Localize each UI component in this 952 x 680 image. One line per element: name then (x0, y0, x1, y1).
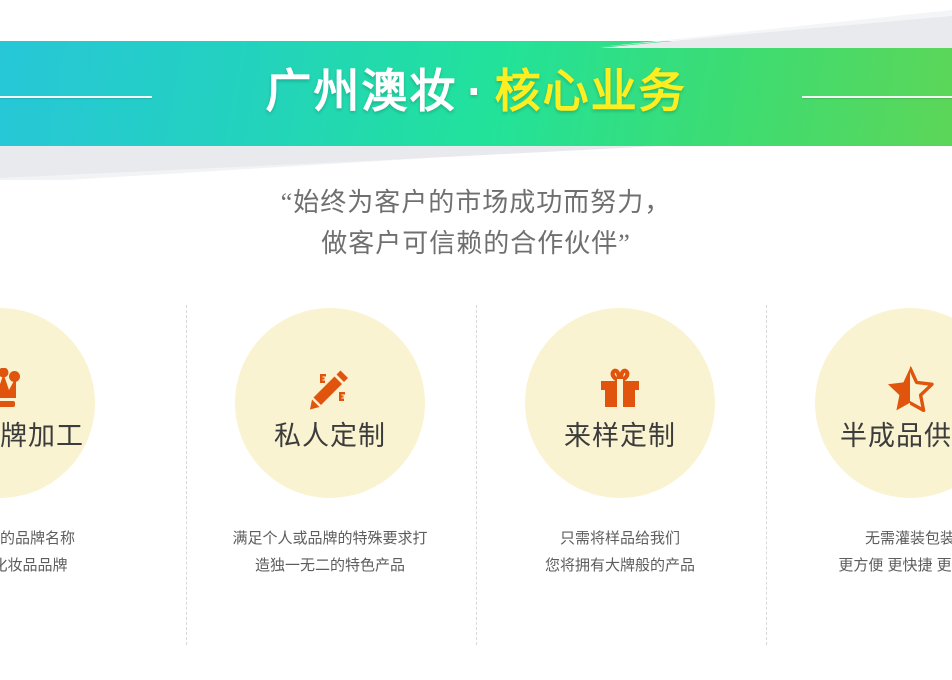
card-description-line-2: 您将拥有大牌般的产品 (474, 552, 766, 579)
service-card-private-custom[interactable]: 私人定制 满足个人或品牌的特殊要求打 造独一无二的特色产品 (184, 300, 476, 660)
banner-top-gray-wedge (0, 0, 952, 62)
page-root: 广州澳妆·核心业务 “始终为客户的市场成功而努力， 做客户可信赖的合作伙伴” (0, 0, 952, 680)
card-label: 私人定制 (184, 418, 476, 454)
card-description-line-1: 只需将样品给我们 (474, 525, 766, 552)
banner-bottom-gray-wedge (0, 138, 952, 180)
slogan-block: “始终为客户的市场成功而努力， 做客户可信赖的合作伙伴” (0, 182, 952, 264)
card-description: 无需灌装包装 更方便 更快捷 更省心 (764, 525, 952, 579)
card-description: 只需将样品给我们 您将拥有大牌般的产品 (474, 525, 766, 579)
gift-icon (474, 362, 766, 416)
service-card-semi-finished[interactable]: 半成品供应 无需灌装包装 更方便 更快捷 更省心 (764, 300, 952, 660)
service-card-list: 自有品牌加工 告诉我们您的品牌名称 拥有专属化妆品品牌 (0, 300, 952, 660)
half-star-icon (764, 362, 952, 416)
slogan-line-2: 做客户可信赖的合作伙伴” (0, 223, 952, 264)
card-label: 来样定制 (474, 418, 766, 454)
card-description-line-2: 造独一无二的特色产品 (184, 552, 476, 579)
card-description: 告诉我们您的品牌名称 拥有专属化妆品品牌 (0, 525, 146, 579)
card-description-line-1: 无需灌装包装 (764, 525, 952, 552)
pencil-icon (184, 362, 476, 416)
card-description-line-1: 告诉我们您的品牌名称 (0, 525, 146, 552)
service-card-sample-custom[interactable]: 来样定制 只需将样品给我们 您将拥有大牌般的产品 (474, 300, 766, 660)
slogan-line-1: “始终为客户的市场成功而努力， (0, 182, 952, 223)
card-description-line-2: 拥有专属化妆品品牌 (0, 552, 146, 579)
card-description: 满足个人或品牌的特殊要求打 造独一无二的特色产品 (184, 525, 476, 579)
card-description-line-2: 更方便 更快捷 更省心 (764, 552, 952, 579)
page-title-brand: 广州澳妆 (265, 65, 457, 117)
crown-icon (0, 362, 146, 416)
header-banner: 广州澳妆·核心业务 (0, 0, 952, 180)
page-title-separator: · (457, 65, 494, 117)
page-title: 广州澳妆·核心业务 (0, 56, 952, 126)
card-label: 半成品供应 (764, 418, 952, 454)
card-label: 自有品牌加工 (0, 418, 146, 454)
page-title-highlight: 核心业务 (495, 65, 687, 117)
card-description-line-1: 满足个人或品牌的特殊要求打 (184, 525, 476, 552)
service-card-own-brand[interactable]: 自有品牌加工 告诉我们您的品牌名称 拥有专属化妆品品牌 (0, 300, 146, 660)
